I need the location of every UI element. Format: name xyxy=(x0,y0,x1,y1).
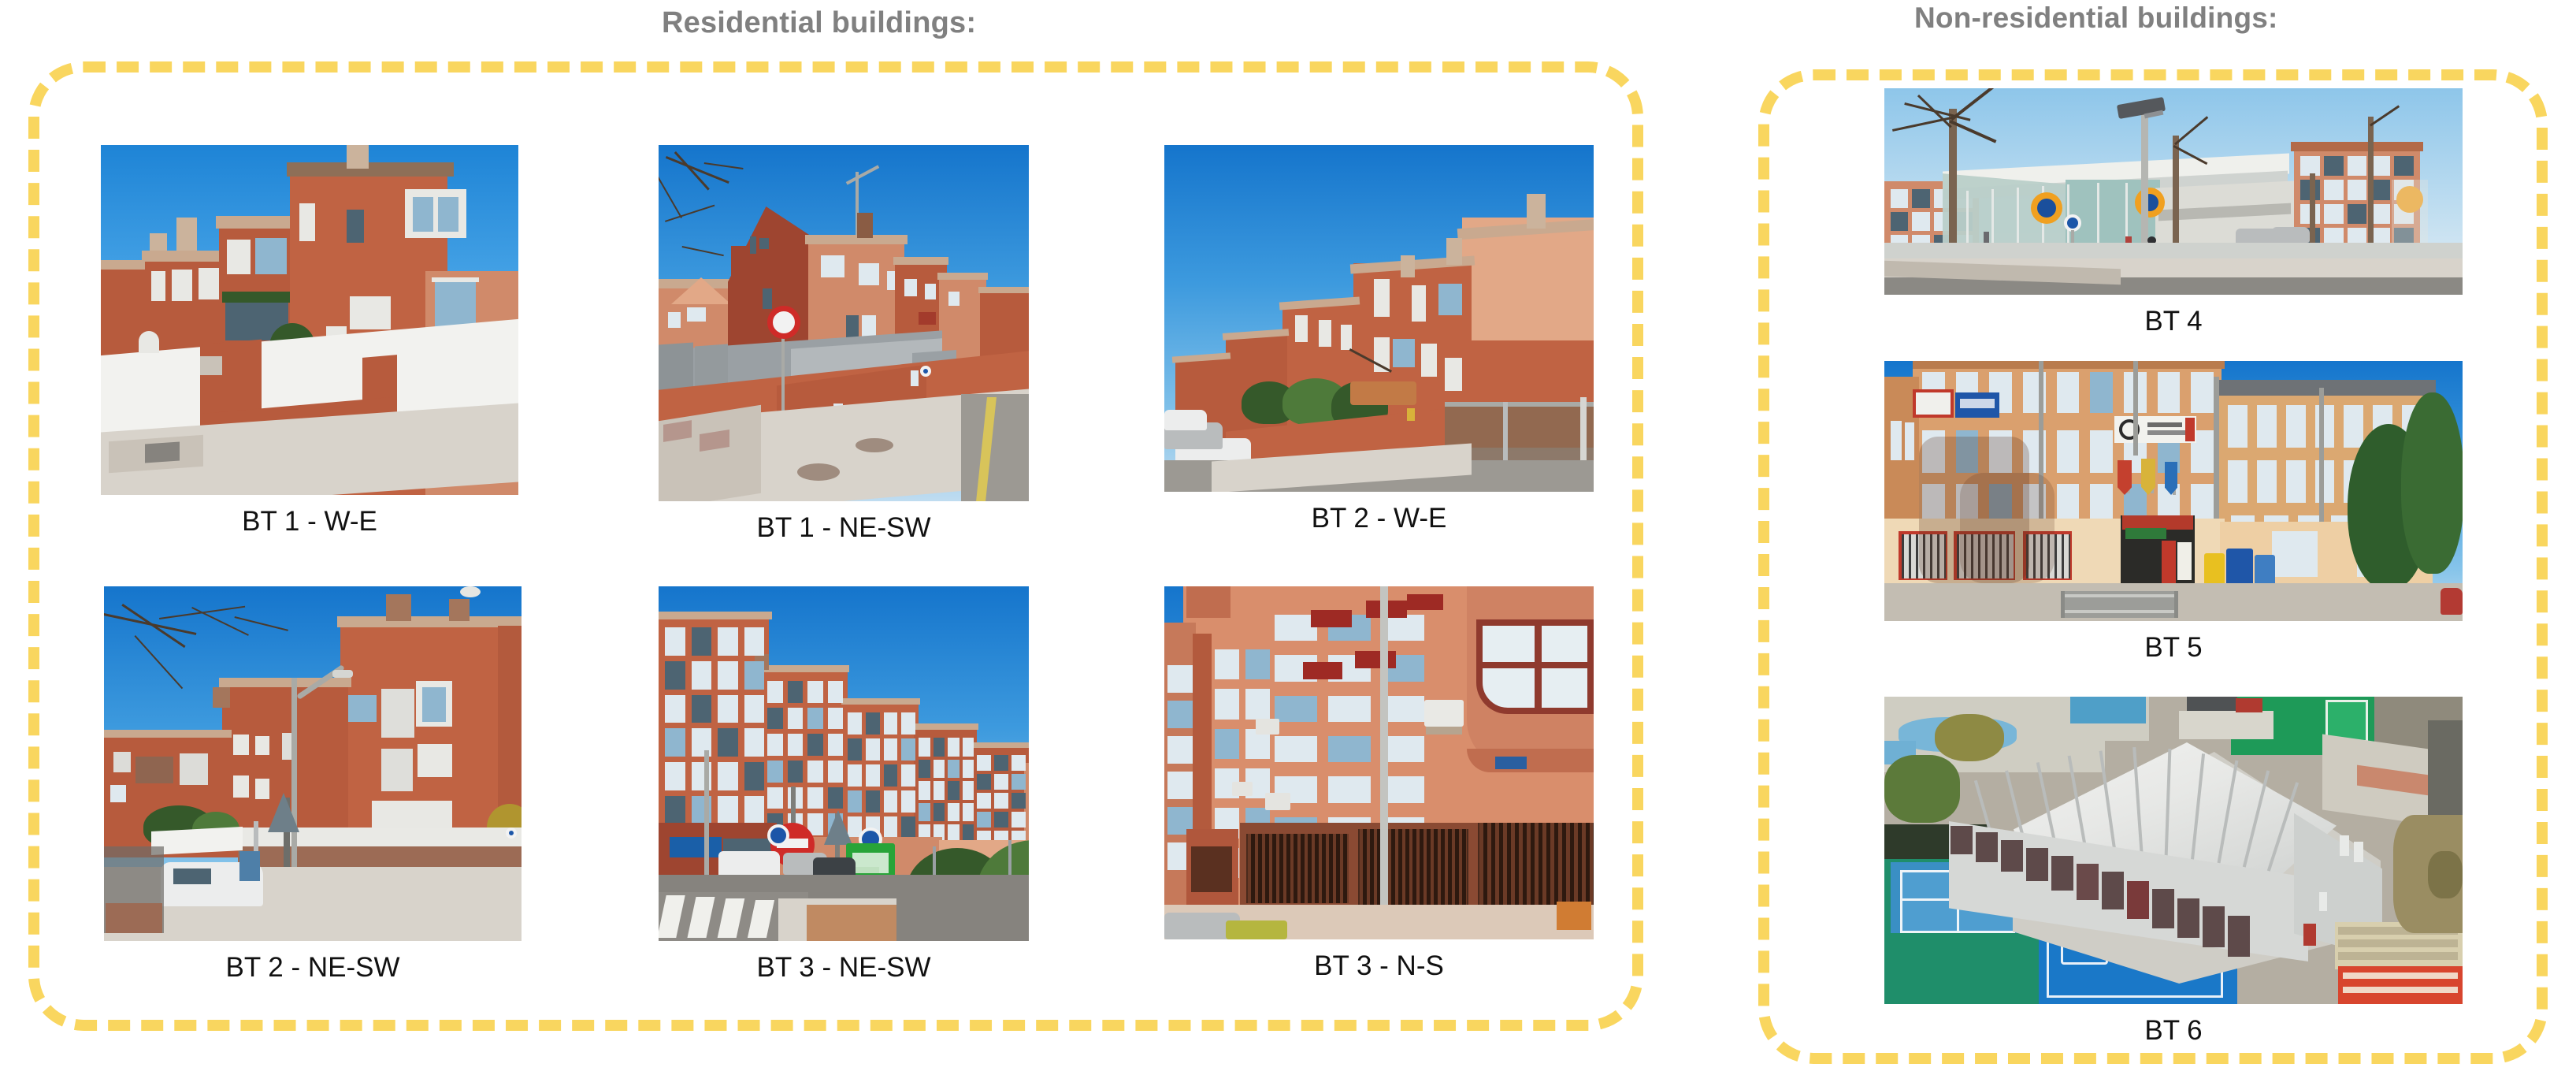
hall-window-bay xyxy=(2203,906,2225,947)
road xyxy=(1884,277,2463,295)
window xyxy=(904,279,917,296)
window xyxy=(1328,736,1371,762)
window xyxy=(255,736,269,755)
window xyxy=(859,263,879,285)
photo-tall-brick-apartment-block xyxy=(659,586,1029,941)
window-shutter xyxy=(418,744,452,777)
window xyxy=(934,760,945,779)
window xyxy=(919,803,930,822)
mailbox xyxy=(200,356,222,375)
window xyxy=(2228,460,2248,503)
window xyxy=(901,738,915,761)
window xyxy=(1245,689,1270,719)
conifer-tree xyxy=(2401,392,2463,574)
roof-detail-red xyxy=(2236,698,2262,712)
window xyxy=(718,762,738,790)
window xyxy=(233,775,249,798)
emblem-flag-red xyxy=(2185,418,2195,441)
chimney xyxy=(213,687,230,708)
window xyxy=(1011,793,1026,809)
window xyxy=(807,761,823,783)
window xyxy=(1421,344,1437,377)
emblem-text xyxy=(2147,422,2182,427)
window xyxy=(919,738,930,757)
window xyxy=(2370,156,2390,176)
shop-grille-small xyxy=(1191,846,1232,892)
swimming-pool xyxy=(2070,697,2146,723)
window xyxy=(788,761,804,783)
autumn-tree xyxy=(1350,381,1416,405)
entrance-panel-white xyxy=(2177,542,2192,580)
photo-gabled-brick-house xyxy=(659,145,1029,501)
photo-cell-bt1-nesw[interactable]: BT 1 - NE-SW xyxy=(659,145,1029,544)
window xyxy=(884,738,898,761)
barrier-rail xyxy=(2061,610,2177,613)
window xyxy=(1393,339,1415,367)
window xyxy=(2090,372,2113,413)
window xyxy=(948,781,960,800)
window xyxy=(828,787,844,809)
window xyxy=(1891,421,1902,460)
chimney xyxy=(857,213,873,238)
window xyxy=(744,728,765,757)
window xyxy=(2394,156,2414,176)
roller-shutter xyxy=(180,753,208,785)
car-white xyxy=(1164,410,1207,430)
window xyxy=(744,695,765,723)
window xyxy=(866,712,880,735)
caption-bt3-nesw: BT 3 - NE-SW xyxy=(659,952,1029,984)
window xyxy=(1215,689,1239,719)
window xyxy=(901,816,915,839)
awning-red xyxy=(1311,610,1352,627)
window xyxy=(1382,776,1424,802)
window xyxy=(2191,372,2214,413)
window xyxy=(2286,405,2306,448)
street-sign-blue-icon xyxy=(920,366,931,377)
window xyxy=(1328,696,1371,722)
window xyxy=(1011,774,1026,790)
car-silver xyxy=(2272,227,2310,243)
photo-supermarket xyxy=(1884,88,2463,295)
window xyxy=(665,661,685,690)
photo-brick-townhouse-row xyxy=(101,145,518,495)
end-wall-window xyxy=(2319,892,2327,911)
lamp-head xyxy=(332,670,353,678)
window xyxy=(744,661,765,690)
window xyxy=(948,292,960,306)
chimney xyxy=(1527,194,1546,229)
balcony-glazing xyxy=(372,801,419,829)
photo-cell-bt4[interactable]: BT 4 xyxy=(1884,88,2463,337)
hall-window-bay xyxy=(2026,848,2048,881)
caption-bt6: BT 6 xyxy=(1884,1015,2463,1047)
window xyxy=(1275,696,1317,722)
balcony xyxy=(113,752,131,772)
window xyxy=(1905,422,1914,460)
vent xyxy=(759,238,769,249)
roof-edge xyxy=(2214,380,2436,396)
downpipe xyxy=(2133,361,2138,456)
photo-school-building xyxy=(1884,361,2463,621)
window xyxy=(665,796,685,824)
utility-cabinet xyxy=(239,851,260,881)
awning-red xyxy=(1303,662,1342,679)
window-slit xyxy=(763,288,772,309)
roller-shutter xyxy=(381,689,414,738)
window xyxy=(901,764,915,787)
window xyxy=(901,712,915,735)
gate-arch xyxy=(139,331,159,353)
ac-bracket xyxy=(1426,727,1462,735)
caption-bt1-nesw: BT 1 - NE-SW xyxy=(659,512,1029,544)
window xyxy=(255,238,287,274)
end-wall-window xyxy=(2340,835,2349,856)
window xyxy=(172,270,192,301)
window xyxy=(718,695,738,723)
window xyxy=(687,307,706,322)
window xyxy=(665,762,685,790)
window xyxy=(2348,204,2367,224)
window xyxy=(807,734,823,756)
window xyxy=(1341,325,1352,350)
window-grid-5 xyxy=(977,755,1026,846)
window xyxy=(994,755,1008,771)
grille-bars xyxy=(1248,834,1349,903)
parapet xyxy=(1913,361,2225,369)
window xyxy=(963,738,974,757)
window xyxy=(2158,372,2181,413)
photo-cell-bt3-ns[interactable]: BT 3 - N-S xyxy=(1164,586,1594,982)
caption-bt1-we: BT 1 - W-E xyxy=(101,506,518,537)
window xyxy=(788,708,804,730)
window xyxy=(925,284,936,299)
window xyxy=(977,774,991,790)
chimney xyxy=(1446,238,1462,265)
window xyxy=(110,785,126,802)
hall-window-bay xyxy=(2127,881,2149,919)
window xyxy=(1891,189,1908,208)
school-sign-red xyxy=(1913,389,1954,418)
window xyxy=(692,695,712,723)
lamp-post xyxy=(1380,586,1388,939)
window xyxy=(994,812,1008,828)
window xyxy=(1912,189,1929,208)
roof-edge xyxy=(2291,142,2423,151)
window xyxy=(788,681,804,703)
railing-top-rail xyxy=(1445,402,1594,407)
window xyxy=(2228,405,2248,448)
window xyxy=(2286,460,2306,503)
window xyxy=(1319,320,1331,347)
photo-cell-bt2-we[interactable]: BT 2 - W-E xyxy=(1164,145,1594,534)
window xyxy=(948,803,960,822)
photo-sports-hall-aerial xyxy=(1884,697,2463,1004)
sign-text-band xyxy=(1960,399,1995,408)
photo-cell-bt2-nesw[interactable]: BT 2 - NE-SW xyxy=(104,586,522,984)
window xyxy=(948,738,960,757)
parapet xyxy=(1186,586,1230,618)
roof-edge xyxy=(978,287,1029,293)
window xyxy=(1215,729,1239,759)
window xyxy=(828,734,844,756)
window xyxy=(1891,212,1908,231)
street-name-plaque xyxy=(1495,757,1527,769)
van-window xyxy=(173,868,211,884)
photo-cell-bt6[interactable]: BT 6 xyxy=(1884,697,2463,1047)
residential-group-title: Residential buildings: xyxy=(662,6,976,40)
window xyxy=(718,796,738,824)
window xyxy=(963,803,974,822)
window xyxy=(1295,315,1308,342)
window xyxy=(866,738,880,761)
window xyxy=(2370,180,2390,199)
window xyxy=(1011,755,1026,771)
window-grid-1 xyxy=(665,627,764,824)
bush xyxy=(2428,851,2463,898)
grille-bars xyxy=(1360,829,1467,905)
window xyxy=(2257,405,2277,448)
window xyxy=(1215,649,1239,679)
roof-edge xyxy=(659,612,772,619)
roof-edge xyxy=(912,723,978,730)
hall-window-bay xyxy=(2001,840,2023,872)
container-slot xyxy=(856,867,879,873)
street-sign-blue-icon xyxy=(506,828,517,839)
window xyxy=(767,734,783,756)
window xyxy=(994,774,1008,790)
window xyxy=(1167,701,1194,728)
window xyxy=(1167,665,1194,693)
air-conditioner xyxy=(1256,719,1279,735)
window xyxy=(718,627,738,656)
car-green-roof xyxy=(1226,920,1287,939)
caption-bt3-ns: BT 3 - N-S xyxy=(1164,950,1594,982)
window xyxy=(1445,358,1462,391)
entrance-sign-green xyxy=(2125,528,2166,539)
window xyxy=(2090,430,2113,473)
adjacent-roof xyxy=(2179,711,2273,739)
window xyxy=(2370,204,2390,224)
photo-cell-bt3-nesw[interactable]: BT 3 - NE-SW xyxy=(659,586,1029,984)
window xyxy=(665,627,685,656)
roof-edge xyxy=(937,273,988,280)
window xyxy=(767,761,783,783)
tree-shadow xyxy=(1960,473,2054,583)
hall-window-bay xyxy=(2152,889,2174,928)
window xyxy=(1382,615,1424,641)
roof-edge xyxy=(287,162,454,177)
photo-cell-bt5[interactable]: BT 5 xyxy=(1884,361,2463,664)
window xyxy=(2057,430,2080,473)
window xyxy=(948,760,960,779)
utility-box xyxy=(911,370,919,386)
red-stack-row xyxy=(2343,987,2458,993)
hall-window-bay xyxy=(1951,826,1973,854)
parking-sign-icon xyxy=(767,824,789,846)
window xyxy=(884,764,898,787)
photo-brick-apartment-blocks xyxy=(104,586,522,941)
window xyxy=(1374,279,1390,317)
barrier-post xyxy=(2174,591,2178,618)
door-frame xyxy=(432,277,479,282)
traffic-cone xyxy=(1557,902,1591,930)
block-row xyxy=(2338,952,2458,960)
balcony-recess xyxy=(135,757,173,783)
tree-cluster xyxy=(1935,714,2004,761)
caption-bt5: BT 5 xyxy=(1884,632,2463,664)
window-wing xyxy=(2272,531,2318,577)
window xyxy=(692,627,712,656)
window xyxy=(848,790,862,813)
window xyxy=(2348,180,2367,199)
window xyxy=(255,779,269,799)
bay-soffit xyxy=(1467,749,1594,772)
window xyxy=(1382,736,1424,762)
window xyxy=(963,760,974,779)
car-white-van xyxy=(718,851,780,878)
window xyxy=(919,760,930,779)
window xyxy=(718,661,738,690)
window xyxy=(692,661,712,690)
photo-cell-bt1-we[interactable]: BT 1 - W-E xyxy=(101,145,518,537)
window xyxy=(2057,372,2080,413)
hall-window-bay xyxy=(2051,856,2073,891)
roof-edge xyxy=(219,678,351,687)
window-ground xyxy=(350,296,391,329)
window xyxy=(848,738,862,761)
manhole-cover xyxy=(797,463,840,481)
window xyxy=(1912,212,1929,231)
window xyxy=(2324,156,2344,176)
window xyxy=(828,681,844,703)
window xyxy=(665,695,685,723)
window xyxy=(665,728,685,757)
satellite-dish xyxy=(460,586,481,597)
end-wall-window xyxy=(2354,842,2363,862)
window xyxy=(977,812,991,828)
shop-sign-blue xyxy=(670,837,722,857)
window-grid-3 xyxy=(848,712,915,839)
manhole-cover xyxy=(856,438,893,452)
chimney xyxy=(386,594,411,621)
window xyxy=(2315,460,2335,503)
air-conditioner xyxy=(1424,700,1464,727)
paved-area xyxy=(659,405,761,501)
photo-salmon-apartment-block xyxy=(1164,586,1594,939)
red-stack-row xyxy=(2343,973,2458,979)
window xyxy=(767,708,783,730)
window-grid-4 xyxy=(919,738,974,843)
chimney xyxy=(1401,255,1415,277)
window xyxy=(299,203,315,241)
glazing-transom xyxy=(1478,662,1593,668)
window xyxy=(2257,460,2277,503)
grille-bars xyxy=(1479,823,1593,905)
chimney xyxy=(449,599,470,621)
window xyxy=(788,734,804,756)
window xyxy=(884,712,898,735)
caption-bt2-nesw: BT 2 - NE-SW xyxy=(104,952,522,984)
roof-edge xyxy=(805,235,908,244)
window xyxy=(994,793,1008,809)
window xyxy=(767,681,783,703)
window xyxy=(1328,776,1371,802)
barrier-post xyxy=(2061,591,2065,618)
window xyxy=(1382,696,1424,722)
speed-limit-sign-icon xyxy=(767,306,800,339)
window-pane xyxy=(345,695,377,722)
window xyxy=(233,735,249,755)
vent xyxy=(750,236,756,254)
window xyxy=(347,210,364,243)
emblem-text xyxy=(2147,430,2190,435)
car-red xyxy=(2441,588,2463,615)
window xyxy=(1412,285,1426,322)
window xyxy=(934,781,945,800)
planter xyxy=(106,903,162,933)
window xyxy=(934,803,945,822)
trees xyxy=(1884,755,1960,823)
window xyxy=(828,761,844,783)
roof-edge xyxy=(759,665,849,672)
awning xyxy=(222,292,291,303)
awning-red xyxy=(919,312,936,325)
air-conditioner xyxy=(1232,782,1253,796)
brick-paving xyxy=(807,905,896,941)
window xyxy=(2324,180,2344,199)
window xyxy=(807,708,823,730)
awning-red xyxy=(1355,651,1396,668)
window xyxy=(744,796,765,824)
window xyxy=(2344,405,2363,448)
window xyxy=(884,790,898,813)
store-logo-inner-icon xyxy=(2037,199,2056,218)
window xyxy=(884,816,898,839)
caption-bt2-we: BT 2 - W-E xyxy=(1164,503,1594,534)
photo-long-terrace-row xyxy=(1164,145,1594,492)
window xyxy=(848,764,862,787)
warning-plate xyxy=(1407,408,1415,421)
awning-red xyxy=(1407,594,1443,610)
court-surround-green xyxy=(1884,933,2039,1004)
window xyxy=(1167,772,1194,799)
window xyxy=(767,787,783,809)
roof-edge xyxy=(104,730,232,738)
drain-cover xyxy=(145,441,180,463)
window xyxy=(807,787,823,809)
window-grid-2 xyxy=(767,681,843,835)
hall-window-bay xyxy=(2228,916,2250,957)
roof-edge xyxy=(841,698,920,705)
window xyxy=(828,708,844,730)
window xyxy=(934,738,945,757)
window xyxy=(744,627,765,656)
window xyxy=(821,255,844,277)
window xyxy=(866,764,880,787)
wall-white xyxy=(151,827,243,855)
window xyxy=(1438,284,1462,315)
window xyxy=(668,312,681,328)
window xyxy=(901,790,915,813)
window xyxy=(977,755,991,771)
window xyxy=(977,793,991,809)
window xyxy=(866,790,880,813)
roof-edge xyxy=(337,616,522,627)
window xyxy=(1011,812,1026,828)
window-grid-center xyxy=(1275,615,1424,843)
window xyxy=(1245,649,1270,679)
